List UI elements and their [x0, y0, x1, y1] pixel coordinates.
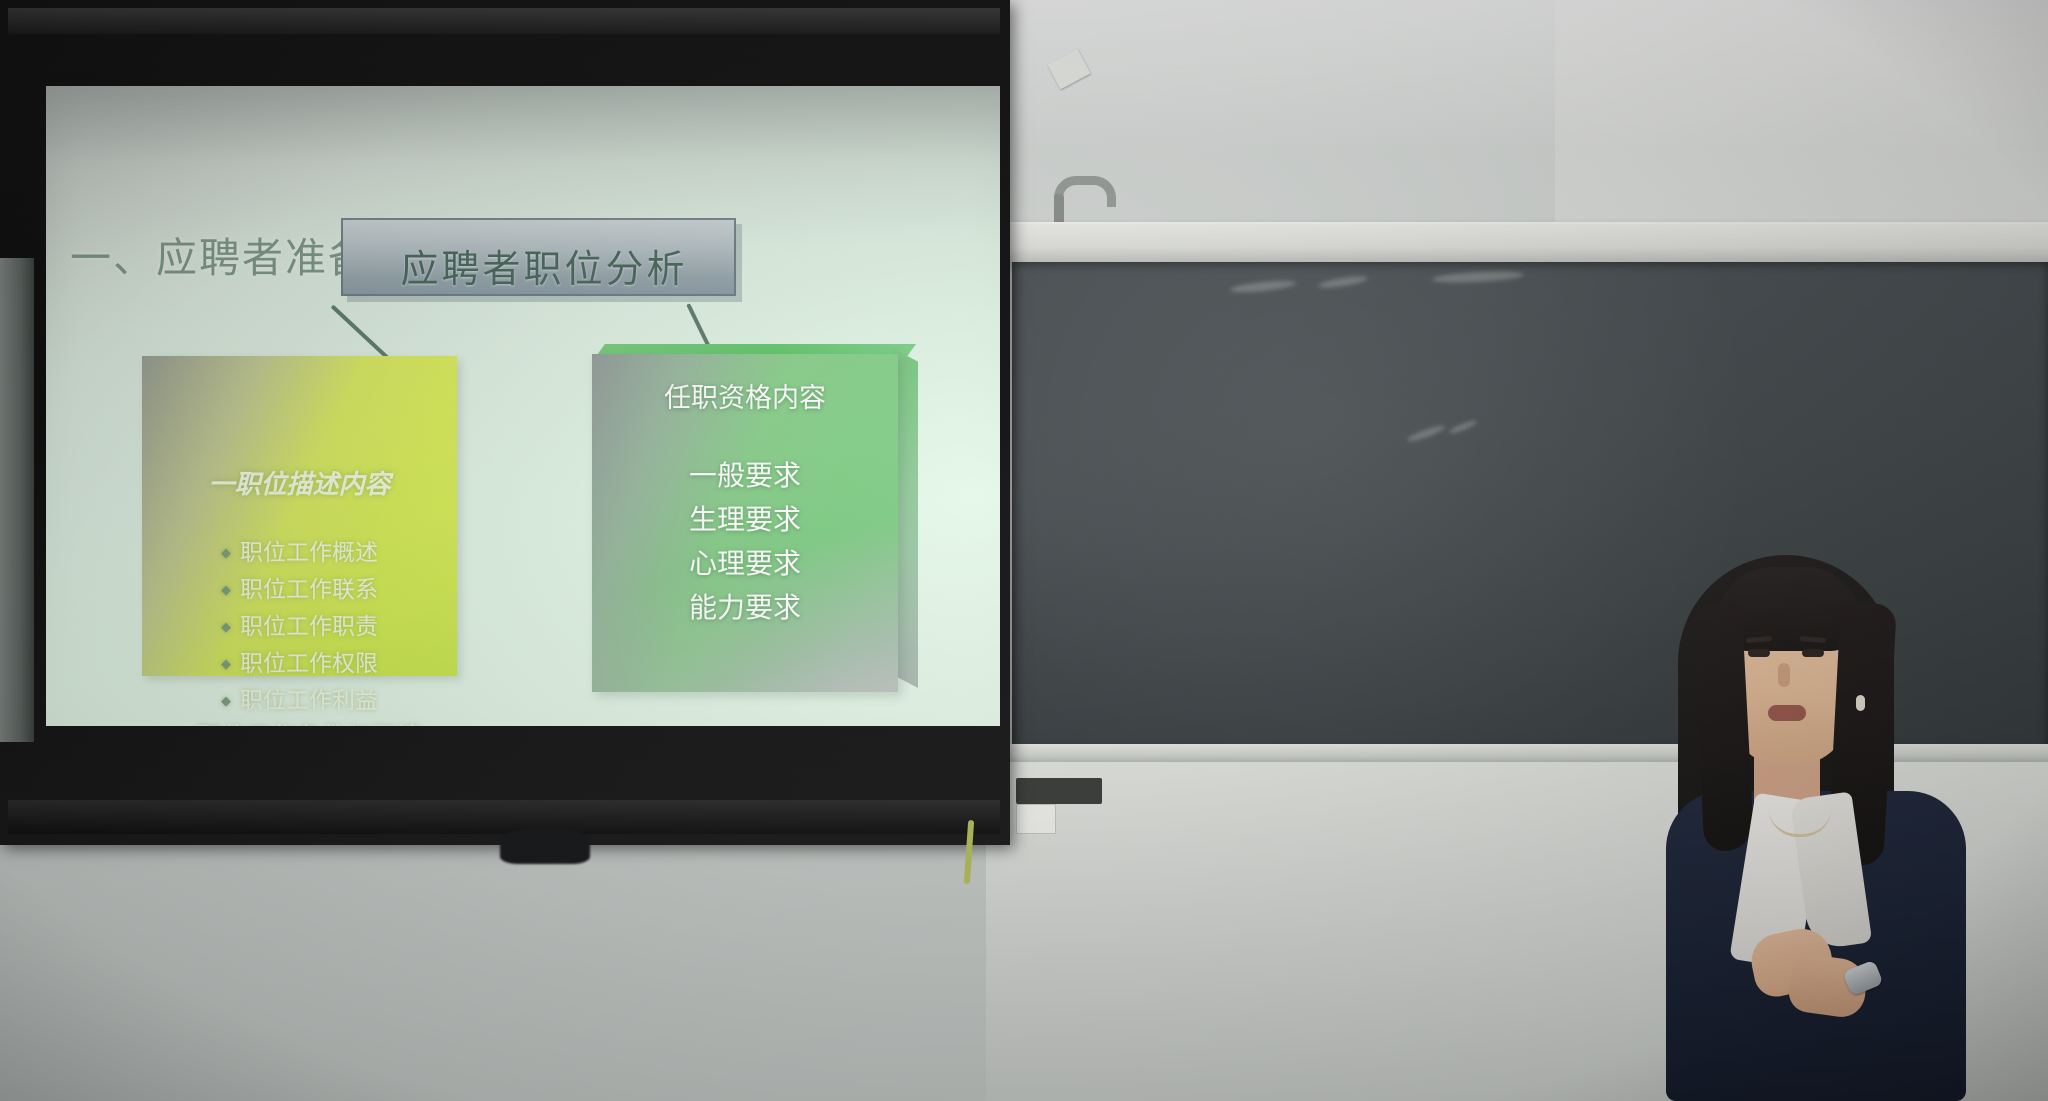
left-box-bullet-list: 职位工作概述 职位工作联系 职位工作职责 职位工作权限 职位工作利益 职位工作条… — [142, 534, 457, 726]
screen-roller — [8, 8, 1000, 34]
slide-banner-title: 应聘者职位分析 — [358, 238, 730, 293]
screen-left-bracket — [0, 258, 34, 742]
list-item: 职位工作职责 — [142, 608, 457, 645]
earring — [1856, 695, 1865, 711]
screen-bottom-bar — [8, 800, 1000, 834]
list-item: 一般要求 — [592, 454, 898, 498]
list-item: 职位工作条件与环境 — [142, 719, 457, 726]
wall-socket — [1016, 778, 1102, 804]
wall-socket-plate — [1016, 804, 1056, 834]
list-item: 职位工作联系 — [142, 571, 457, 608]
slide: 一、应聘者准备 应聘者职位分析 一职位描述内容 职位工作概述 职位工作联系 职位… — [46, 86, 1000, 726]
projector-screen-frame: 一、应聘者准备 应聘者职位分析 一职位描述内容 职位工作概述 职位工作联系 职位… — [0, 0, 1010, 845]
list-item: 生理要求 — [592, 498, 898, 542]
left-box-heading: 一职位描述内容 — [142, 464, 457, 501]
right-box-heading: 任职资格内容 — [592, 376, 898, 415]
list-item: 职位工作利益 — [142, 682, 457, 719]
list-item: 职位工作概述 — [142, 534, 457, 571]
nose — [1778, 663, 1790, 687]
list-item: 职位工作权限 — [142, 645, 457, 682]
presenter — [1650, 545, 1980, 1101]
right-box-item-list: 一般要求 生理要求 心理要求 能力要求 — [592, 454, 898, 630]
slide-section-title: 一、应聘者准备 — [70, 224, 371, 284]
classroom-photo: 一、应聘者准备 应聘者职位分析 一职位描述内容 职位工作概述 职位工作联系 职位… — [0, 0, 2048, 1101]
eye-right — [1802, 649, 1824, 657]
list-item: 心理要求 — [592, 542, 898, 586]
projected-slide-surface: 一、应聘者准备 应聘者职位分析 一职位描述内容 职位工作概述 职位工作联系 职位… — [46, 86, 1000, 726]
floor-object — [500, 828, 590, 864]
list-item: 能力要求 — [592, 586, 898, 630]
ceiling-highlight — [1000, 0, 2048, 150]
eye-left — [1748, 649, 1770, 657]
mouth — [1768, 705, 1806, 721]
blackboard-top-frame — [1010, 222, 2048, 266]
